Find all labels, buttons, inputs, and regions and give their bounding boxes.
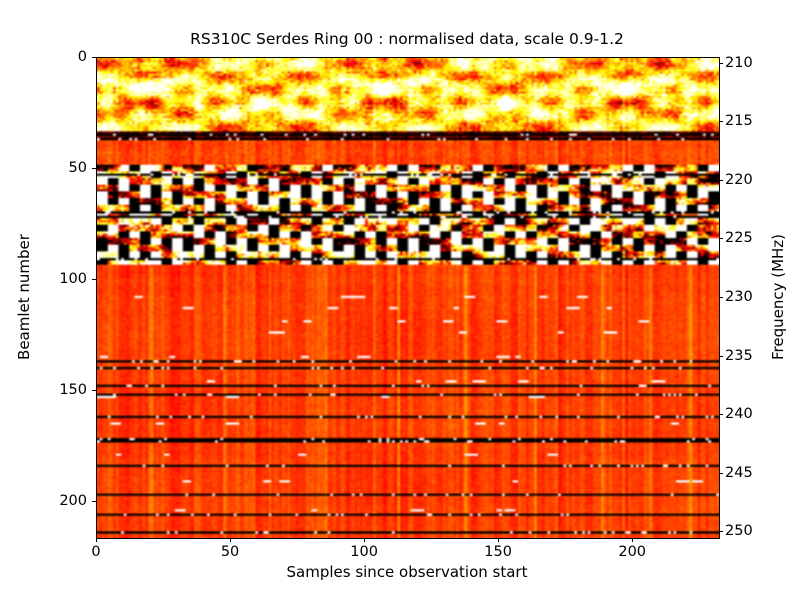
y-right-tick-225 — [719, 238, 723, 239]
x-tick-200 — [632, 538, 633, 542]
y-right-tick-label-250: 250 — [725, 523, 753, 539]
heatmap-image[interactable] — [97, 58, 719, 538]
y-right-tick-250 — [719, 531, 723, 532]
x-tick-0 — [96, 538, 97, 542]
y-right-tick-label-215: 215 — [725, 113, 753, 129]
y-right-tick-245 — [719, 473, 723, 474]
y-axis-label-right: Frequency (MHz) — [769, 234, 787, 360]
y-right-tick-220 — [719, 180, 723, 181]
y-left-tick-0 — [92, 57, 96, 58]
y-left-tick-200 — [92, 501, 96, 502]
y-left-tick-label-100: 100 — [59, 271, 87, 287]
y-right-tick-label-235: 235 — [725, 348, 753, 364]
x-axis-label: Samples since observation start — [96, 563, 718, 581]
heatmap-axes[interactable] — [96, 57, 720, 539]
x-tick-150 — [498, 538, 499, 542]
y-right-tick-210 — [719, 63, 723, 64]
y-right-tick-215 — [719, 121, 723, 122]
y-left-tick-100 — [92, 279, 96, 280]
figure-canvas: RS310C Serdes Ring 00 : normalised data,… — [0, 0, 800, 600]
x-tick-label-50: 50 — [221, 544, 239, 560]
y-right-tick-230 — [719, 297, 723, 298]
y-right-tick-240 — [719, 414, 723, 415]
y-right-tick-label-225: 225 — [725, 230, 753, 246]
y-right-tick-label-245: 245 — [725, 465, 753, 481]
x-tick-label-100: 100 — [350, 544, 378, 560]
y-left-tick-label-50: 50 — [69, 160, 87, 176]
y-right-tick-235 — [719, 356, 723, 357]
y-left-tick-label-200: 200 — [59, 493, 87, 509]
y-left-tick-150 — [92, 390, 96, 391]
x-tick-100 — [364, 538, 365, 542]
y-left-tick-label-0: 0 — [78, 49, 87, 65]
y-right-tick-label-230: 230 — [725, 289, 753, 305]
y-axis-label-left: Beamlet number — [15, 234, 33, 360]
x-tick-label-200: 200 — [618, 544, 646, 560]
y-left-tick-50 — [92, 168, 96, 169]
y-left-tick-label-150: 150 — [59, 382, 87, 398]
y-right-tick-label-210: 210 — [725, 55, 753, 71]
x-tick-label-150: 150 — [484, 544, 512, 560]
x-tick-50 — [230, 538, 231, 542]
y-right-tick-label-220: 220 — [725, 172, 753, 188]
page-title: RS310C Serdes Ring 00 : normalised data,… — [96, 30, 718, 48]
x-tick-label-0: 0 — [91, 544, 100, 560]
y-right-tick-label-240: 240 — [725, 406, 753, 422]
